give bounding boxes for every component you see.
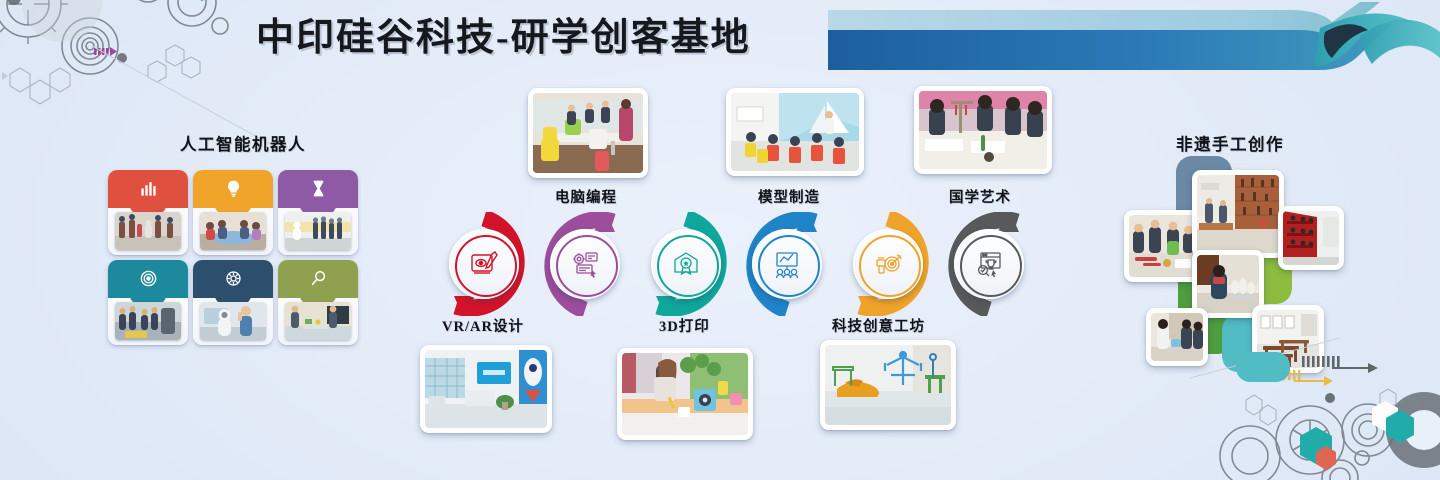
ring-disc: [449, 229, 519, 299]
ai-card[interactable]: [193, 170, 273, 255]
ring-model-making[interactable]: [735, 212, 839, 316]
photo-computer-programming: [533, 93, 643, 173]
label-vr-ar-design: VR/AR设计: [442, 315, 524, 336]
ai-card[interactable]: [108, 260, 188, 345]
section-title-ai-robotics: 人工智能机器人: [180, 131, 306, 155]
section-title-heritage: 非遗手工创作: [1176, 131, 1284, 155]
photo-heritage-red-shelves: [1283, 211, 1339, 265]
target-icon: [108, 264, 188, 292]
target-printer-icon: [872, 248, 904, 280]
label-computer-programming: 电脑编程: [555, 186, 617, 207]
hourglass-icon: [278, 174, 358, 202]
ring-programming[interactable]: [533, 212, 637, 316]
gear-icon: [193, 264, 273, 292]
page-title: 中印硅谷科技-研学创客基地: [256, 6, 751, 61]
trophy-browser-icon: [973, 248, 1005, 280]
poster-canvas: 中印硅谷科技-研学创客基地 人工智能机器人: [0, 0, 1440, 480]
ring-disc: [853, 229, 923, 299]
code-gear-icon: [569, 248, 601, 280]
photo-model-making: [731, 93, 859, 171]
photo-card-computer-programming[interactable]: [528, 88, 648, 178]
photo-heritage-porcelain: [1197, 255, 1259, 313]
photo-vr-ar-lobby: [425, 350, 547, 428]
label-tech-workshop: 科技创意工坊: [832, 315, 925, 336]
photo-card-3d-printing[interactable]: [617, 348, 753, 440]
label-chinese-art: 国学艺术: [949, 186, 1011, 207]
photo-card-heritage-red-shelves[interactable]: [1278, 206, 1344, 270]
process-ring-row: [432, 212, 1042, 312]
photo-card-heritage-craft-table[interactable]: [1124, 210, 1202, 282]
label-3d-printing: 3D打印: [659, 315, 710, 336]
ai-card[interactable]: [108, 170, 188, 255]
ribbon-decoration: [820, 0, 1440, 80]
photo-card-heritage-visitors[interactable]: [1146, 308, 1208, 366]
photo-card-tech-models[interactable]: [820, 340, 956, 430]
label-model-making: 模型制造: [758, 186, 820, 207]
ring-disc: [954, 229, 1024, 299]
presentation-icon: [771, 248, 803, 280]
ring-disc: [752, 229, 822, 299]
ring-3d-printing[interactable]: [634, 212, 738, 316]
photo-card-chinese-art[interactable]: [914, 86, 1052, 174]
photo-chinese-art: [919, 91, 1047, 169]
ai-card[interactable]: [193, 260, 273, 345]
vr-design-icon: [468, 248, 500, 280]
magnifier-icon: [278, 264, 358, 292]
ai-card-photo: [200, 212, 266, 250]
bar-chart-icon: [108, 174, 188, 202]
photo-heritage-display-room: [1197, 175, 1279, 253]
ai-card[interactable]: [278, 260, 358, 345]
ring-disc: [550, 229, 620, 299]
photo-heritage-craft-table: [1129, 215, 1197, 277]
photo-card-heritage-display-room[interactable]: [1192, 170, 1284, 258]
ring-disc: [651, 229, 721, 299]
lightbulb-icon: [193, 174, 273, 202]
collage-blob-teal-corner: [1236, 352, 1290, 382]
photo-3d-printing: [622, 353, 748, 435]
badge-model-icon: [670, 248, 702, 280]
ring-tech-workshop[interactable]: [836, 212, 940, 316]
ai-card-photo: [285, 302, 351, 340]
ai-card-photo: [115, 212, 181, 250]
ai-card-photo: [200, 302, 266, 340]
ai-robotics-card-grid: [108, 170, 358, 345]
ai-card-photo: [285, 212, 351, 250]
photo-card-model-making[interactable]: [726, 88, 864, 176]
gear-decoration-top-left: [0, 0, 270, 144]
ai-card[interactable]: [278, 170, 358, 255]
ring-achievement[interactable]: [937, 212, 1041, 316]
photo-heritage-visitors: [1151, 313, 1203, 361]
ring-vr-ar[interactable]: [432, 212, 536, 316]
photo-tech-models: [825, 345, 951, 425]
photo-card-vr-ar-lobby[interactable]: [420, 345, 552, 433]
ai-card-photo: [115, 302, 181, 340]
